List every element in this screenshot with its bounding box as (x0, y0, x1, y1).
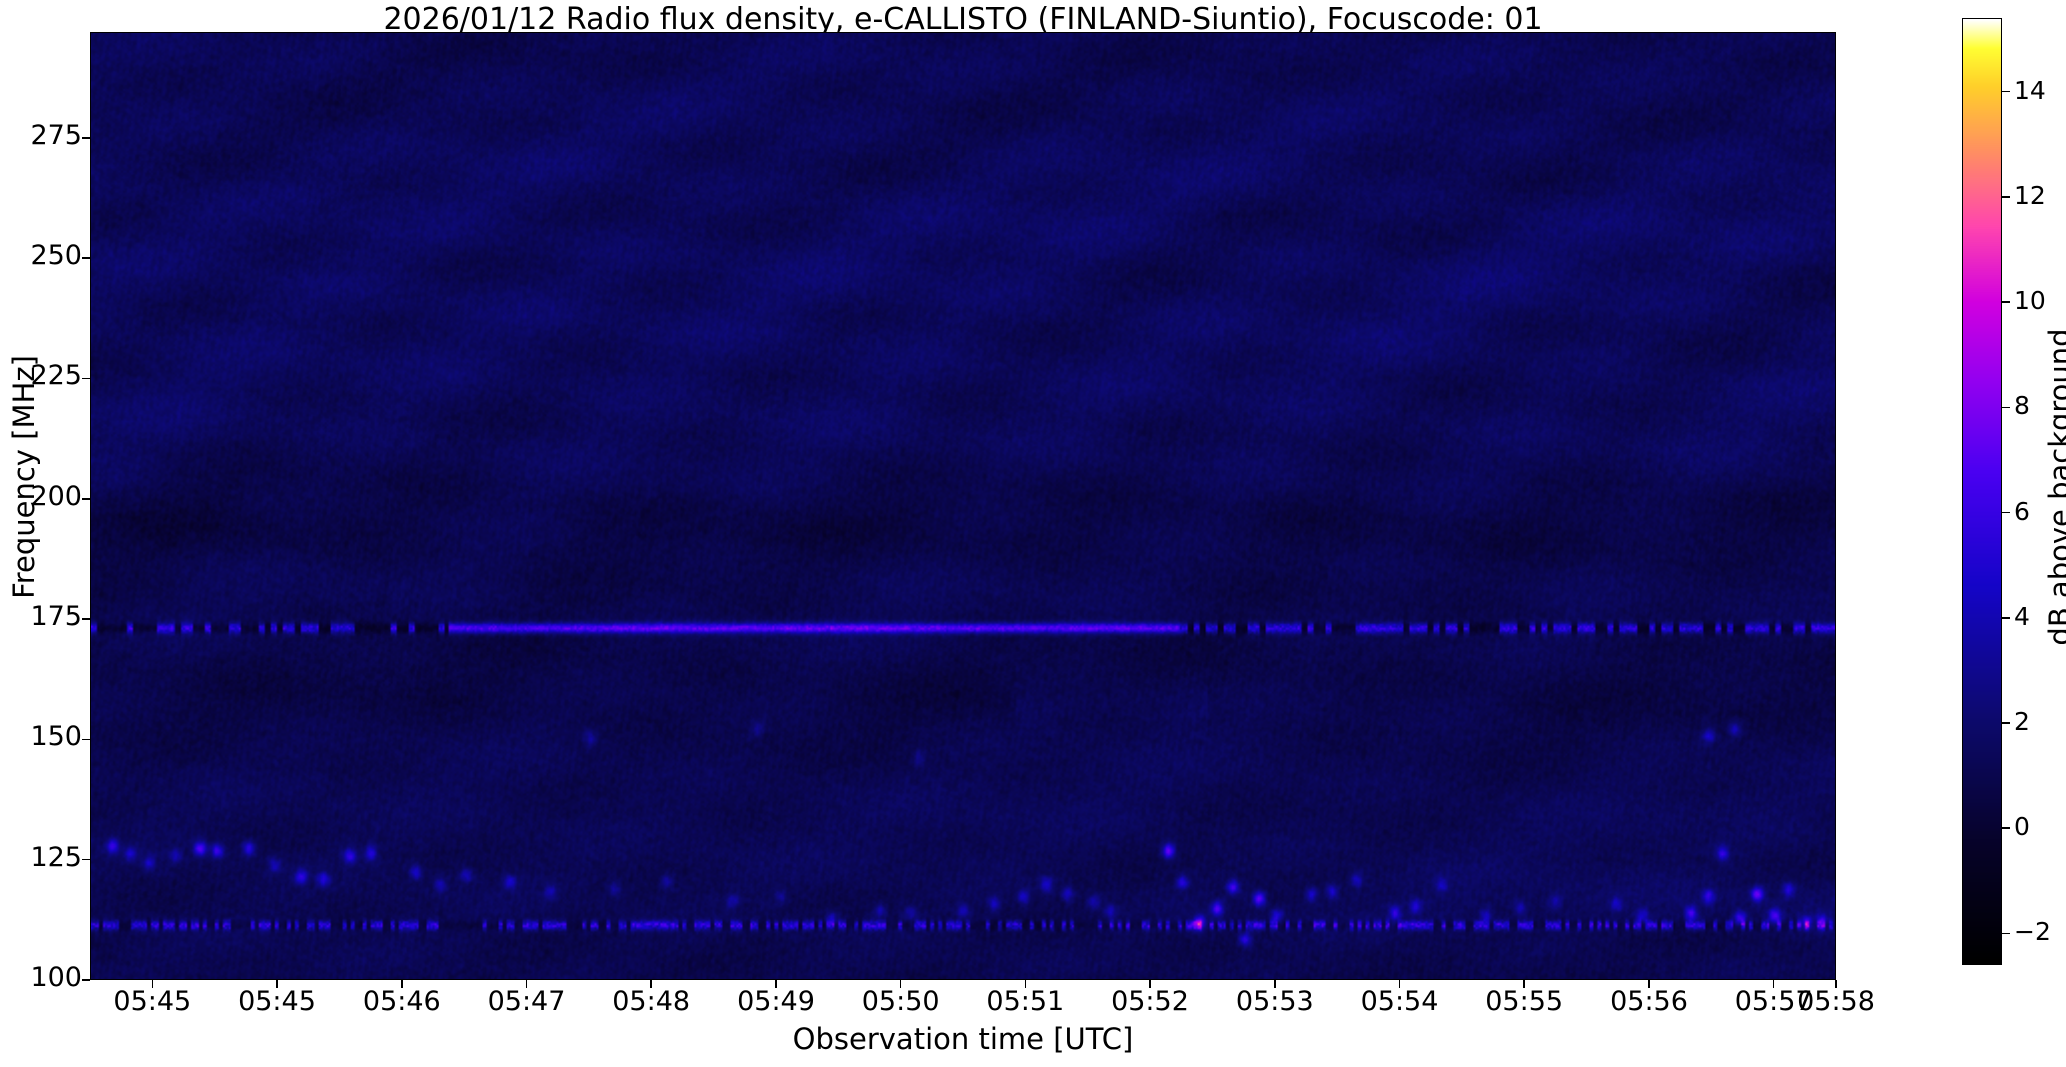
y-tick-mark (82, 498, 90, 500)
colorbar-tick-mark (2002, 196, 2010, 198)
x-tick-mark (900, 980, 902, 988)
colorbar-tick-mark (2002, 301, 2010, 303)
spectrogram-axes (90, 32, 1836, 980)
y-tick-mark (82, 137, 90, 139)
x-tick-mark (1025, 980, 1027, 988)
spectrogram-image (91, 33, 1835, 979)
x-tick-mark (775, 980, 777, 988)
colorbar-tick-mark (2002, 722, 2010, 724)
x-tick-mark (1149, 980, 1151, 988)
y-axis-label: Frequency [MHz] (7, 257, 41, 697)
y-tick-mark (82, 979, 90, 981)
colorbar-tick-label: 0 (2014, 812, 2066, 841)
y-tick-label: 275 (10, 120, 82, 151)
colorbar-label: dB above background (2043, 287, 2066, 687)
colorbar-tick-mark (2002, 827, 2010, 829)
colorbar-tick-label: −2 (2014, 917, 2066, 946)
colorbar-gradient (1963, 19, 2001, 964)
x-tick-label: 05:58 (1746, 986, 1926, 1017)
x-tick-mark (401, 980, 403, 988)
spectrogram-figure: 2026/01/12 Radio flux density, e-CALLIST… (0, 0, 2066, 1067)
y-tick-mark (82, 378, 90, 380)
x-tick-mark (650, 980, 652, 988)
colorbar-tick-mark (2002, 512, 2010, 514)
x-tick-mark (1648, 980, 1650, 988)
y-tick-label: 125 (10, 842, 82, 873)
colorbar-tick-mark (2002, 91, 2010, 93)
x-tick-mark (276, 980, 278, 988)
x-axis-label: Observation time [UTC] (90, 1022, 1836, 1056)
colorbar-tick-label: 12 (2014, 181, 2066, 210)
x-tick-mark (1523, 980, 1525, 988)
colorbar (1962, 18, 2002, 965)
y-tick-mark (82, 618, 90, 620)
colorbar-tick-mark (2002, 933, 2010, 935)
y-tick-mark (82, 859, 90, 861)
colorbar-tick-mark (2002, 407, 2010, 409)
colorbar-tick-label: 14 (2014, 76, 2066, 105)
x-tick-mark (152, 980, 154, 988)
colorbar-tick-mark (2002, 617, 2010, 619)
x-tick-mark (1399, 980, 1401, 988)
y-tick-mark (82, 739, 90, 741)
y-tick-mark (82, 257, 90, 259)
x-tick-mark (1835, 980, 1837, 988)
x-tick-mark (526, 980, 528, 988)
colorbar-tick-label: 2 (2014, 707, 2066, 736)
y-tick-label: 150 (10, 721, 82, 752)
x-tick-mark (1274, 980, 1276, 988)
